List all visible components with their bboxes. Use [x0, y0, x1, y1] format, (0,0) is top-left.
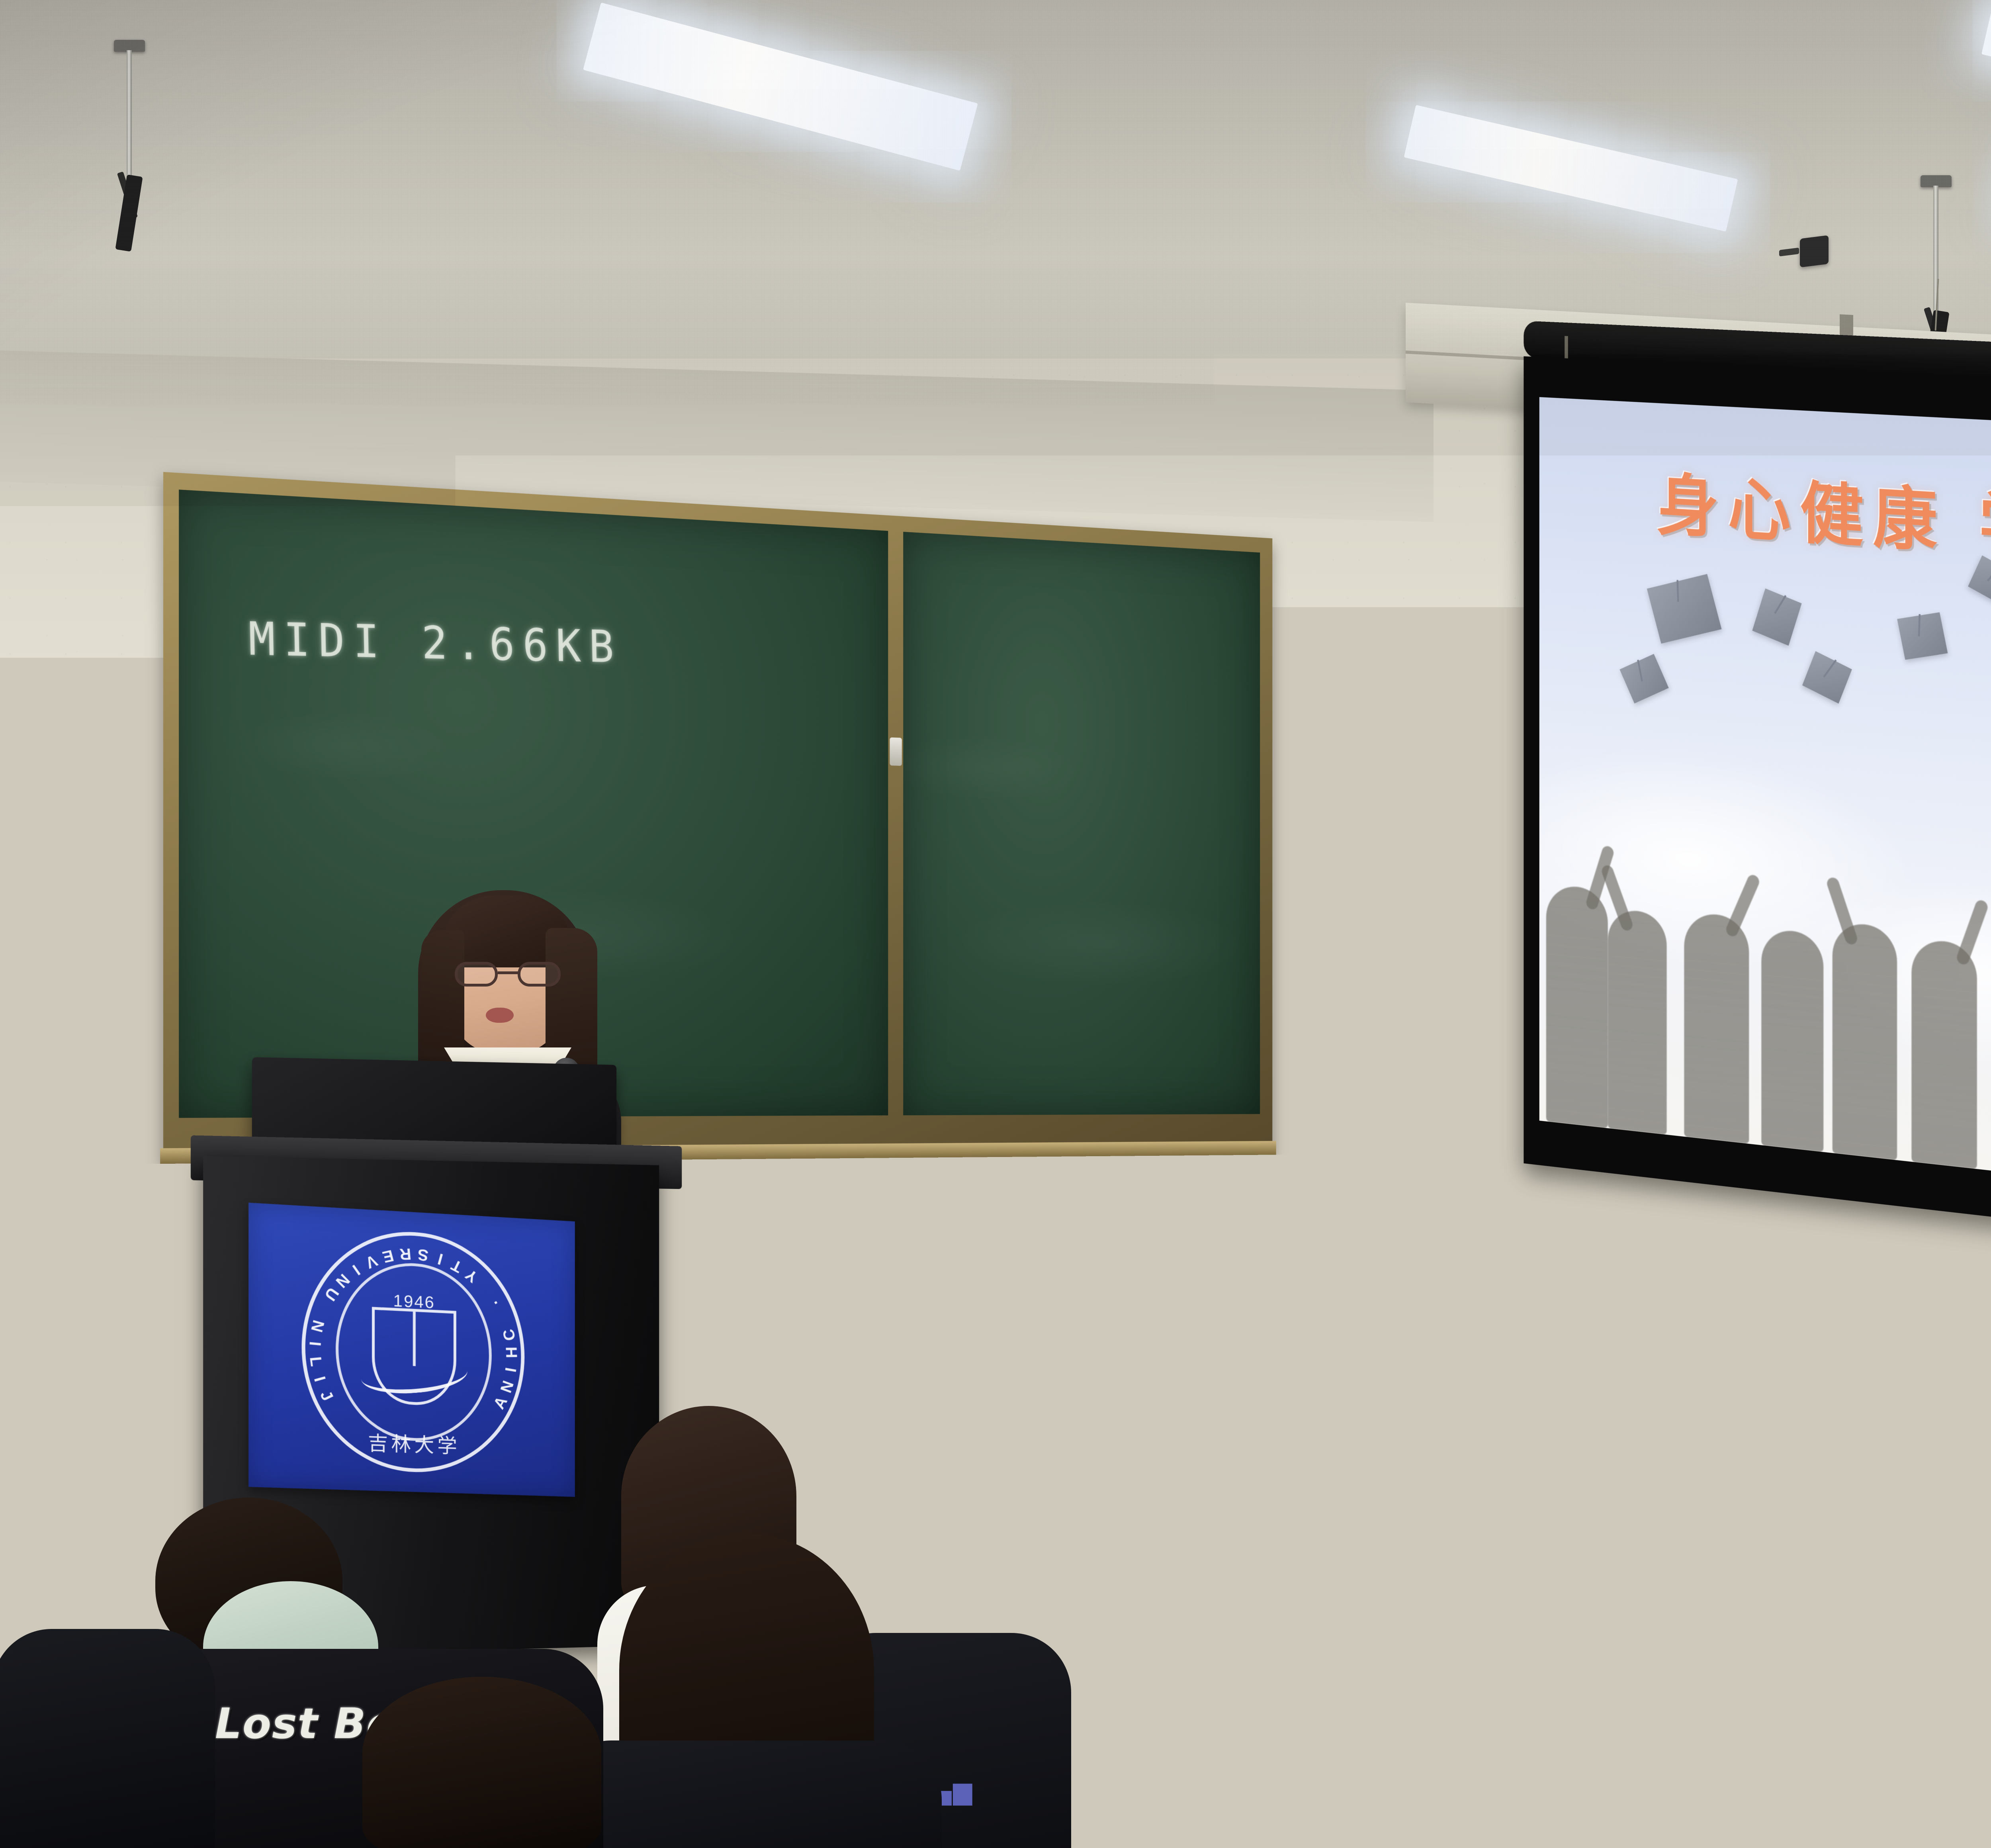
- chalkboard-latch[interactable]: [890, 737, 902, 766]
- seal-char: I: [502, 1366, 520, 1374]
- glasses-bridge: [498, 971, 518, 974]
- student-hair: [362, 1677, 601, 1848]
- seal-char: N: [307, 1318, 327, 1334]
- graduate-silhouette: [1761, 928, 1823, 1152]
- student-front-right: [1720, 1589, 1991, 1848]
- seal-char: I: [305, 1341, 324, 1347]
- seal-char: N: [497, 1378, 518, 1395]
- student-front-left-edge: [0, 1605, 207, 1848]
- seal-char: A: [490, 1394, 511, 1412]
- seal-char: I: [436, 1249, 445, 1268]
- eyeglasses-icon: [1653, 1482, 1700, 1508]
- lens-right: [518, 962, 561, 987]
- graduate-silhouette: [1833, 922, 1897, 1160]
- graduate-silhouette: [1546, 884, 1608, 1128]
- hair-bow-icon: [1218, 1423, 1314, 1474]
- student-torso: [1716, 1780, 1991, 1848]
- student-torso: [0, 1629, 215, 1848]
- screen-surface: 身心健康 学有所成: [1539, 397, 1991, 1218]
- student-torso: [1095, 1641, 1430, 1848]
- seal-char: T: [449, 1255, 465, 1276]
- graduate-silhouette: [1684, 912, 1749, 1144]
- eyeglasses-icon: [455, 962, 561, 987]
- ceiling-sensor-icon: [1800, 235, 1829, 268]
- university-seal-icon: JILIN UNIVERSITY · CHINA 1946 吉林大学: [302, 1226, 525, 1476]
- seal-char: Y: [462, 1265, 481, 1286]
- lens-left: [455, 962, 498, 987]
- seal-char: H: [503, 1347, 521, 1358]
- seal-char: V: [363, 1251, 380, 1272]
- garment-graphic: ▇▃▆▂: [1187, 1748, 1264, 1776]
- seal-char: C: [500, 1328, 519, 1342]
- graduate-silhouette: [1911, 938, 1977, 1169]
- seal-char: L: [306, 1356, 325, 1367]
- student-front-left-b: [303, 1677, 661, 1848]
- seal-char: I: [349, 1261, 363, 1278]
- chalkboard-note: MIDI 2.66KB: [248, 612, 622, 673]
- presenter-mouth: [486, 1008, 514, 1023]
- graduation-cap-icon: [1897, 612, 1948, 660]
- seal-char: J: [316, 1388, 336, 1404]
- student-navy-jacket: ▇▃▆▂: [1099, 1577, 1426, 1848]
- podium-plaque: JILIN UNIVERSITY · CHINA 1946 吉林大学: [248, 1203, 575, 1497]
- seal-char: E: [380, 1246, 395, 1266]
- classroom-scene: MIDI 2.66KB 身心健康 学有所成: [0, 0, 1991, 1848]
- seal-char: R: [399, 1245, 412, 1263]
- graduate-silhouette: [1608, 908, 1667, 1135]
- projection-screen[interactable]: 身心健康 学有所成: [1524, 356, 1991, 1269]
- seal-char: I: [310, 1374, 329, 1384]
- chalk-dust: [903, 532, 1260, 1115]
- seal-char: S: [417, 1245, 429, 1265]
- thermos-bottle[interactable]: [56, 1206, 88, 1279]
- student-head: [1564, 1362, 1739, 1569]
- bow-knot: [1256, 1435, 1277, 1462]
- chalkboard-panel-right[interactable]: [903, 532, 1260, 1115]
- mount-rod: [127, 50, 132, 182]
